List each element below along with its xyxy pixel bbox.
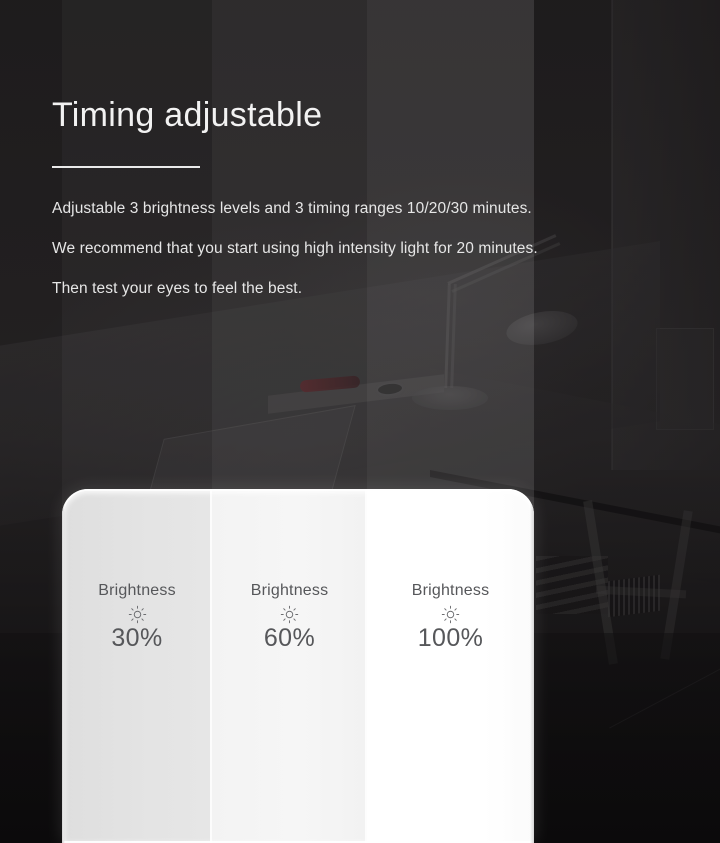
product-feature-page: Timing adjustable Adjustable 3 brightnes… xyxy=(0,0,720,843)
description-block: Adjustable 3 brightness levels and 3 tim… xyxy=(52,200,652,320)
sun-icon xyxy=(280,605,299,624)
sun-icon-wrap-30 xyxy=(62,605,212,624)
description-line-2: We recommend that you start using high i… xyxy=(52,240,652,258)
brightness-cell-30: Brightness xyxy=(62,489,212,843)
brightness-cell-60: Brightness xyxy=(212,489,367,843)
brightness-panel: Brightness xyxy=(62,489,534,843)
brightness-cell-100: Brightness xyxy=(367,489,534,843)
sun-icon xyxy=(128,605,147,624)
sun-icon-wrap-60 xyxy=(212,605,367,624)
sun-icon xyxy=(441,605,460,624)
sun-icon-wrap-100 xyxy=(367,605,534,624)
brightness-value-100: 100% xyxy=(367,625,534,651)
brightness-value-30: 30% xyxy=(62,625,212,651)
brightness-caption-60: Brightness xyxy=(212,582,367,600)
brightness-labels: Brightness xyxy=(62,489,534,843)
title-divider xyxy=(52,166,200,168)
brightness-caption-30: Brightness xyxy=(62,582,212,600)
description-line-3: Then test your eyes to feel the best. xyxy=(52,280,652,298)
page-title: Timing adjustable xyxy=(52,96,322,135)
description-line-1: Adjustable 3 brightness levels and 3 tim… xyxy=(52,200,652,218)
brightness-caption-100: Brightness xyxy=(367,582,534,600)
brightness-value-60: 60% xyxy=(212,625,367,651)
